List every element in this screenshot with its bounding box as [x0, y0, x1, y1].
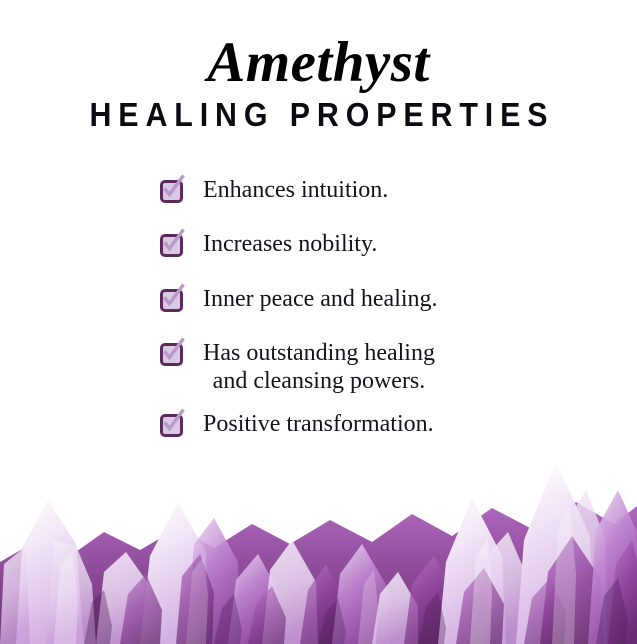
checkmark-icon: [162, 340, 187, 365]
checked-checkbox-icon[interactable]: [160, 414, 183, 437]
amethyst-healing-properties-poster: Amethyst HEALING PROPERTIES Enhances int…: [0, 0, 637, 644]
poster-header: Amethyst HEALING PROPERTIES: [0, 0, 637, 131]
list-item: Positive transformation.: [0, 410, 637, 438]
crystal-cluster-graphic: [0, 444, 637, 644]
checked-checkbox-icon[interactable]: [160, 343, 183, 366]
list-item-label: Enhances intuition.: [203, 176, 388, 204]
list-item-label: Increases nobility.: [203, 230, 377, 258]
checked-checkbox-icon[interactable]: [160, 234, 183, 257]
page-title: Amethyst: [0, 0, 637, 92]
checkmark-icon: [162, 411, 187, 436]
list-item: Increases nobility.: [0, 230, 637, 258]
list-item: Has outstanding healing and cleansing po…: [0, 339, 637, 396]
list-item-label: Has outstanding healing and cleansing po…: [203, 339, 435, 396]
page-subtitle: HEALING PROPERTIES: [25, 92, 611, 131]
list-item: Inner peace and healing.: [0, 285, 637, 313]
checkmark-icon: [162, 177, 187, 202]
list-item: Enhances intuition.: [0, 176, 637, 204]
amethyst-crystal-image: [0, 444, 637, 644]
checked-checkbox-icon[interactable]: [160, 180, 183, 203]
list-item-label: Positive transformation.: [203, 410, 434, 438]
checked-checkbox-icon[interactable]: [160, 289, 183, 312]
healing-properties-list: Enhances intuition. Increases nobility. …: [0, 176, 637, 464]
list-item-label: Inner peace and healing.: [203, 285, 438, 313]
checkmark-icon: [162, 231, 187, 256]
checkmark-icon: [162, 286, 187, 311]
